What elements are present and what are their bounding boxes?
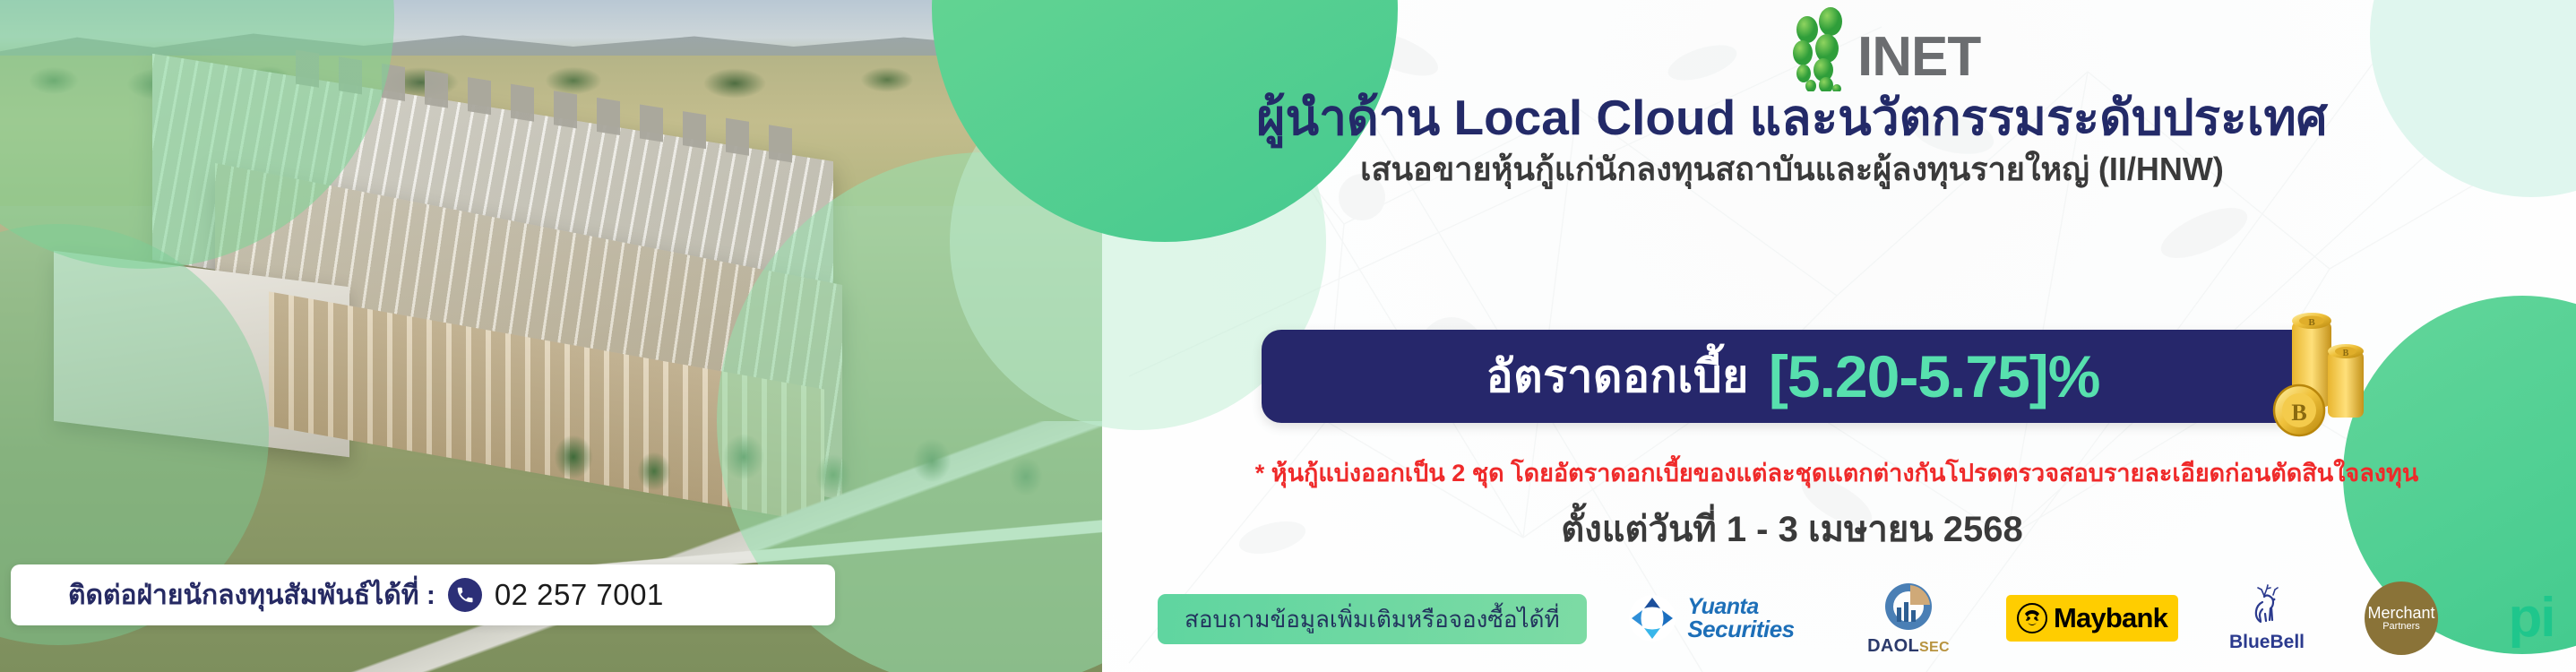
yuanta-mark-icon (1628, 594, 1676, 642)
daol-mark-icon (1882, 581, 1934, 633)
interest-rate-label: อัตราดอกเบี้ย (1486, 341, 1749, 412)
daol-wordmark: DAOLSEC (1867, 636, 1950, 657)
broker-logo-merchant-partners[interactable]: Merchant Partners (2334, 572, 2468, 665)
contact-label: ติดต่อฝ่ายนักลงทุนสัมพันธ์ได้ที่ : (68, 574, 435, 616)
broker-logo-bluebell[interactable]: BlueBell (2200, 572, 2334, 665)
merchant-circle: Merchant Partners (2365, 582, 2438, 655)
yuanta-wordmark: Yuanta Securities (1687, 596, 1794, 641)
merchant-name-line2: Partners (2382, 622, 2420, 633)
yuanta-name-line2: Securities (1687, 618, 1794, 641)
daol-suffix: SEC (1919, 640, 1950, 655)
daol-name: DAOL (1867, 636, 1919, 656)
pi-wordmark: pi (2508, 590, 2554, 646)
inquiry-cta-button[interactable]: สอบถามข้อมูลเพิ่มเติมหรือจองซื้อได้ที่ (1158, 594, 1587, 644)
svg-text:B: B (2308, 317, 2315, 328)
bluebell-deer-icon (2246, 584, 2287, 629)
interest-rate-box: อัตราดอกเบี้ย [5.20-5.75]% (1262, 330, 2324, 423)
svg-text:B: B (2291, 400, 2306, 426)
broker-logo-yuanta[interactable]: Yuanta Securities (1590, 572, 1832, 665)
investor-relations-contact: ติดต่อฝ่ายนักลงทุนสัมพันธ์ได้ที่ : 02 25… (11, 564, 835, 625)
gold-coins-icon: B B B (2245, 301, 2371, 452)
svg-text:B: B (2343, 349, 2349, 358)
page-subtitle: เสนอขายหุ้นกู้แก่นักลงทุนสถาบันและผู้ลงท… (1151, 143, 2433, 194)
maybank-wordmark: Maybank (2054, 602, 2167, 634)
offering-dates: ตั้งแต่วันที่ 1 - 3 เมษายน 2568 (1151, 500, 2433, 557)
broker-logo-maybank[interactable]: Maybank (1985, 572, 2200, 665)
broker-logo-pi[interactable]: pi (2468, 572, 2576, 665)
contact-phone-number[interactable]: 02 257 7001 (495, 578, 664, 612)
footnote-disclaimer: * หุ้นกู้แบ่งออกเป็น 2 ชุด โดยอัตราดอกเบ… (1120, 453, 2554, 492)
maybank-chip: Maybank (2006, 595, 2178, 642)
interest-rate-value: [5.20-5.75]% (1769, 342, 2100, 410)
broker-logos: Yuanta Securities DAOLSEC (1590, 572, 2563, 665)
inet-bond-offering-banner: INET ผู้นำด้าน Local Cloud และนวัตกรรมระ… (0, 0, 2576, 672)
merchant-name-line1: Merchant (2367, 605, 2434, 622)
bluebell-wordmark: BlueBell (2229, 632, 2305, 653)
broker-logo-daol[interactable]: DAOLSEC (1832, 572, 1985, 665)
phone-icon[interactable] (448, 578, 482, 612)
maybank-tiger-icon (2017, 603, 2047, 633)
